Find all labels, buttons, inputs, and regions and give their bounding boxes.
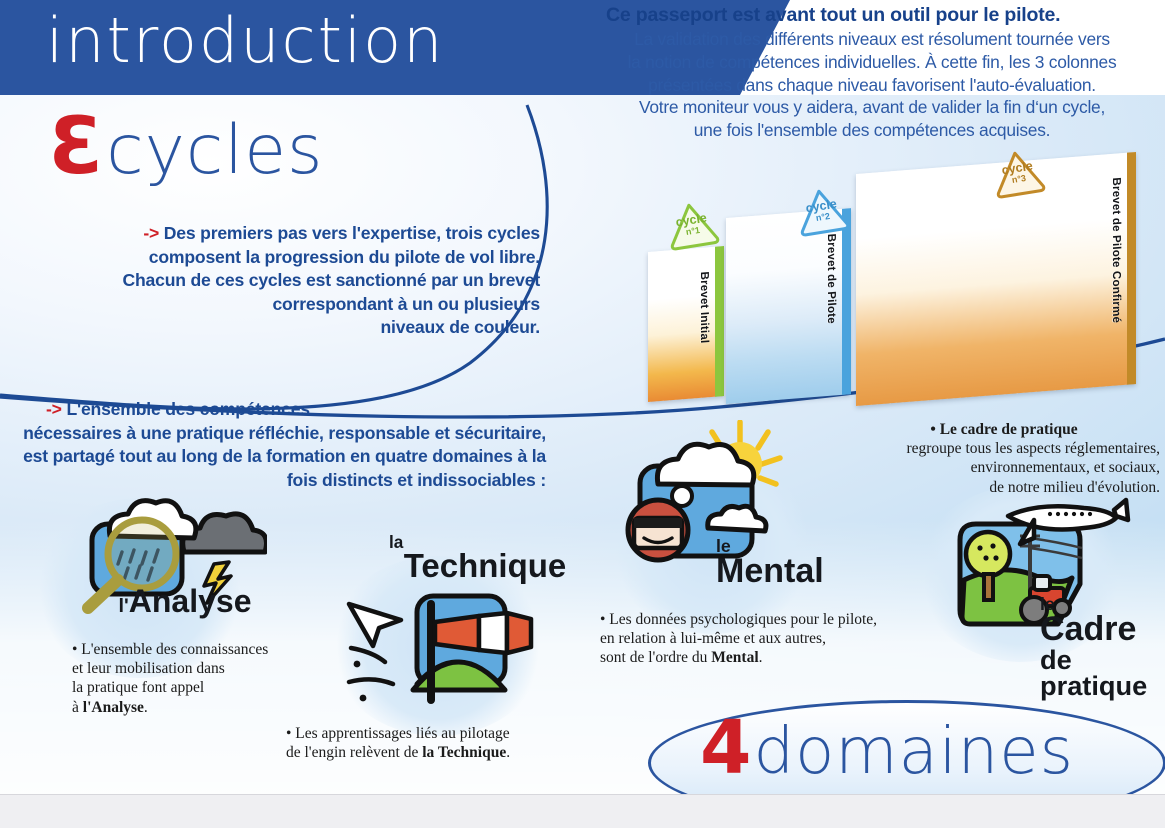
mental-title: le Mental — [716, 538, 866, 588]
intro-line: une fois l'ensemble des compétences acqu… — [592, 119, 1152, 142]
arrow-marker: -> — [143, 223, 159, 243]
cycle-badge-2: cycle n°2 — [793, 184, 852, 238]
four-domaines-lockup: 4 domaines — [700, 714, 1074, 782]
analyse-title-article: l' — [119, 595, 129, 617]
cycles-word: cycles — [106, 120, 323, 181]
brevet-card-1: Brevet Initial — [648, 246, 724, 402]
intro-block: Ce passeport est avant tout un outil pou… — [592, 4, 1152, 142]
infographic-page: introduction Ce passeport est avant tout… — [0, 0, 1165, 828]
analyse-title-main: Analyse — [129, 583, 252, 619]
brevet-card-2: Brevet de Pilote — [726, 208, 851, 404]
cadre-text-line: • Le cadre de pratique — [848, 420, 1160, 439]
mental-text-line: en relation à lui-même et aux autres, — [600, 629, 930, 648]
intro-line: présentées dans chaque niveau favorisent… — [592, 74, 1152, 97]
cadre-bold-term: Le cadre de pratique — [940, 421, 1078, 438]
analyse-text-line: et leur mobilisation dans — [72, 659, 332, 678]
brevet-card-sheet — [648, 246, 724, 402]
mental-title-main: Mental — [716, 552, 824, 590]
mental-bold-term: Mental — [711, 649, 758, 666]
cycle-badge-1: cycle n°1 — [663, 198, 722, 252]
technique-text-line: de l'engin relèvent de la Technique. — [286, 743, 576, 762]
domaines-paragraph-line: -> L'ensemble des compétences — [18, 398, 546, 422]
analyse-text-line: • L'ensemble des connaissances — [72, 640, 332, 659]
technique-text: • Les apprentissages liés au pilotage de… — [286, 724, 576, 762]
cadre-text-line: environnementaux, et sociaux, — [848, 458, 1160, 477]
cadre-text-line: de notre milieu d'évolution. — [848, 478, 1160, 497]
cycle-badge-3: cycle n°3 — [989, 146, 1048, 200]
cycles-paragraph-line: correspondant à un ou plusieurs — [30, 293, 540, 317]
windsock-hill-icon — [335, 578, 550, 728]
domaines-paragraph-line: est partagé tout au long de la formation… — [18, 445, 546, 469]
intro-line: Votre moniteur vous y aidera, avant de v… — [592, 96, 1152, 119]
brevet-card-spine — [1127, 152, 1136, 385]
cadre-text: • Le cadre de pratique regroupe tous les… — [848, 420, 1160, 497]
brevet-card-label: Brevet de Pilote — [825, 233, 837, 324]
brevet-card-spine — [842, 208, 851, 395]
brevet-card-label: Brevet Initial — [698, 271, 710, 344]
cycles-number: 3 — [48, 112, 102, 182]
technique-title: la Technique — [395, 534, 575, 582]
brevet-card-label: Brevet de Pilote Confirmé — [1110, 177, 1122, 324]
intro-body: La validation des différents niveaux est… — [592, 28, 1152, 141]
mental-text-line: • Les données psychologiques pour le pil… — [600, 610, 930, 629]
arrow-marker: -> — [46, 399, 62, 419]
domaines-paragraph-text: L'ensemble des compétences — [66, 399, 309, 419]
cadre-text-line: regroupe tous les aspects réglementaires… — [848, 439, 1160, 458]
intro-line: La validation des différents niveaux est… — [592, 28, 1152, 51]
cycles-paragraph-line: Chacun de ces cycles est sanctionné par … — [30, 269, 540, 293]
technique-bold-term: la Technique — [422, 744, 506, 761]
brevet-card-spine — [715, 246, 724, 397]
domaines-paragraph-line: fois distincts et indissociables : — [18, 469, 546, 493]
analyse-text: • L'ensemble des connaissances et leur m… — [72, 640, 332, 717]
mental-text-line: sont de l'ordre du Mental. — [600, 648, 930, 667]
cycles-paragraph-text: Des premiers pas vers l'expertise, trois… — [164, 223, 540, 243]
domaines-word: domaines — [754, 723, 1074, 782]
intro-headline: Ce passeport est avant tout un outil pou… — [592, 4, 1152, 26]
cadre-title-main2: de pratique — [1040, 647, 1165, 700]
cadre-title: le Cadre de pratique — [1040, 596, 1165, 700]
domaines-paragraph: -> L'ensemble des compétences nécessaire… — [18, 398, 546, 492]
brevet-cards-group: Brevet Initial cycle n°1 Brevet de Pilot… — [630, 160, 1165, 410]
three-cycles-lockup: 3 cycles — [48, 112, 323, 182]
cycles-paragraph-line: composent la progression du pilote de vo… — [30, 246, 540, 270]
cycles-paragraph-line: -> Des premiers pas vers l'expertise, tr… — [30, 222, 540, 246]
cycles-paragraph: -> Des premiers pas vers l'expertise, tr… — [30, 222, 540, 340]
intro-line: la notion de compétences individuelles. … — [592, 51, 1152, 74]
page-title: introduction — [46, 4, 444, 77]
analyse-text-line: à l'Analyse. — [72, 698, 332, 717]
domaines-number: 4 — [700, 714, 752, 782]
domaines-paragraph-line: nécessaires à une pratique réfléchie, re… — [18, 422, 546, 446]
mental-text: • Les données psychologiques pour le pil… — [600, 610, 930, 668]
analyse-title: l'Analyse — [90, 586, 280, 617]
technique-text-line: • Les apprentissages liés au pilotage — [286, 724, 576, 743]
page-bottom-strip — [0, 794, 1165, 828]
cycles-paragraph-line: niveaux de couleur. — [30, 316, 540, 340]
cadre-title-main: Cadre — [1040, 610, 1136, 648]
analyse-text-line: la pratique font appel — [72, 678, 332, 697]
analyse-bold-term: l'Analyse — [83, 699, 144, 716]
